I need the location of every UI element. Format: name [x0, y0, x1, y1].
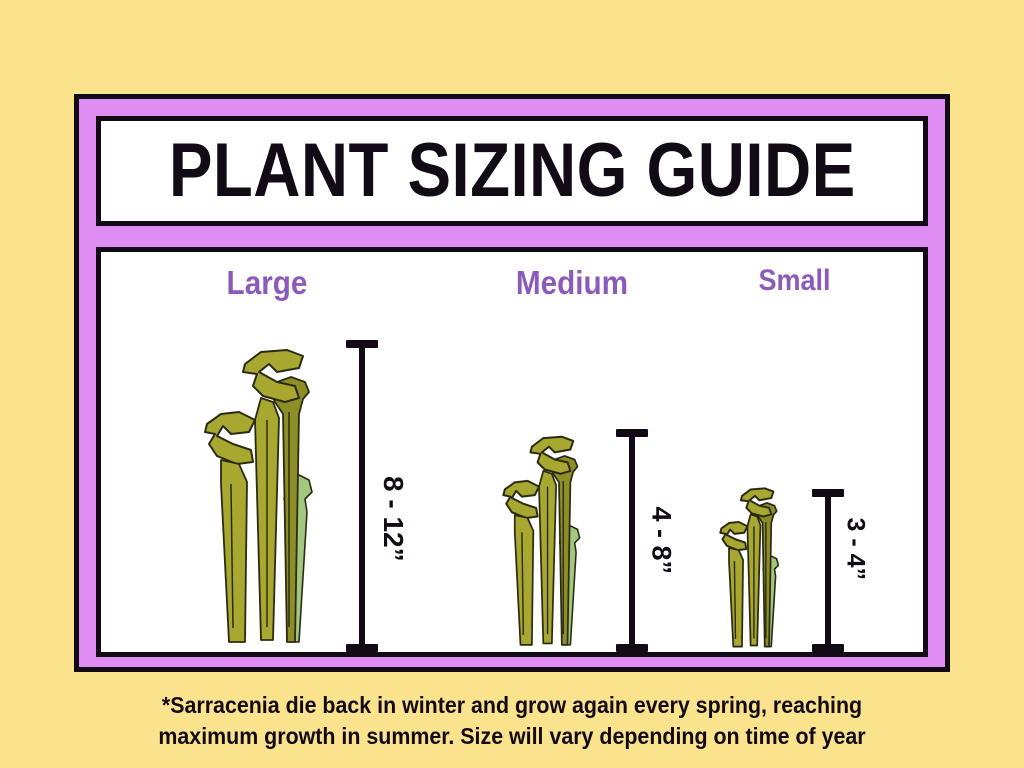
measure-stem-icon	[359, 347, 365, 645]
measure-cap-bottom-icon	[346, 644, 378, 652]
measure-cap-bottom-icon	[616, 644, 648, 652]
plant-illustration-large	[199, 342, 339, 652]
measure-cap-bottom-icon	[812, 644, 844, 652]
measure-bar-small: 3 - 4”	[805, 489, 851, 652]
size-label-large: Large	[150, 266, 384, 299]
measure-stem-icon	[629, 436, 635, 645]
measure-bar-medium: 4 - 8”	[609, 429, 655, 652]
size-label-medium: Medium	[460, 266, 685, 299]
measure-value-large: 8 - 12”	[379, 476, 407, 562]
plant-illustration-small	[717, 484, 793, 652]
measure-value-small: 3 - 4”	[843, 518, 868, 581]
footnote-line-1: *Sarracenia die back in winter and grow …	[105, 690, 920, 721]
page-title: PLANT SIZING GUIDE	[169, 133, 856, 209]
measure-value-medium: 4 - 8”	[648, 507, 675, 575]
size-group-medium: Medium	[491, 252, 741, 652]
sizing-chart-panel: Large	[96, 247, 928, 657]
sarracenia-pitcher-plant-icon	[499, 431, 599, 652]
size-group-large: Large	[191, 252, 451, 652]
sarracenia-pitcher-plant-icon	[199, 342, 339, 652]
measure-bar-large: 8 - 12”	[339, 340, 385, 652]
plant-illustration-medium	[499, 431, 599, 652]
footnote-line-2: maximum growth in summer. Size will vary…	[105, 721, 920, 752]
sarracenia-pitcher-plant-icon	[717, 484, 793, 652]
size-label-small: Small	[698, 266, 892, 296]
measure-stem-icon	[825, 496, 831, 645]
chart-plot-area: Large	[101, 252, 923, 652]
title-panel: PLANT SIZING GUIDE	[96, 116, 928, 226]
poster-frame: PLANT SIZING GUIDE Large	[74, 94, 950, 672]
size-group-small: Small	[709, 252, 924, 652]
footnote: *Sarracenia die back in winter and grow …	[105, 690, 920, 752]
